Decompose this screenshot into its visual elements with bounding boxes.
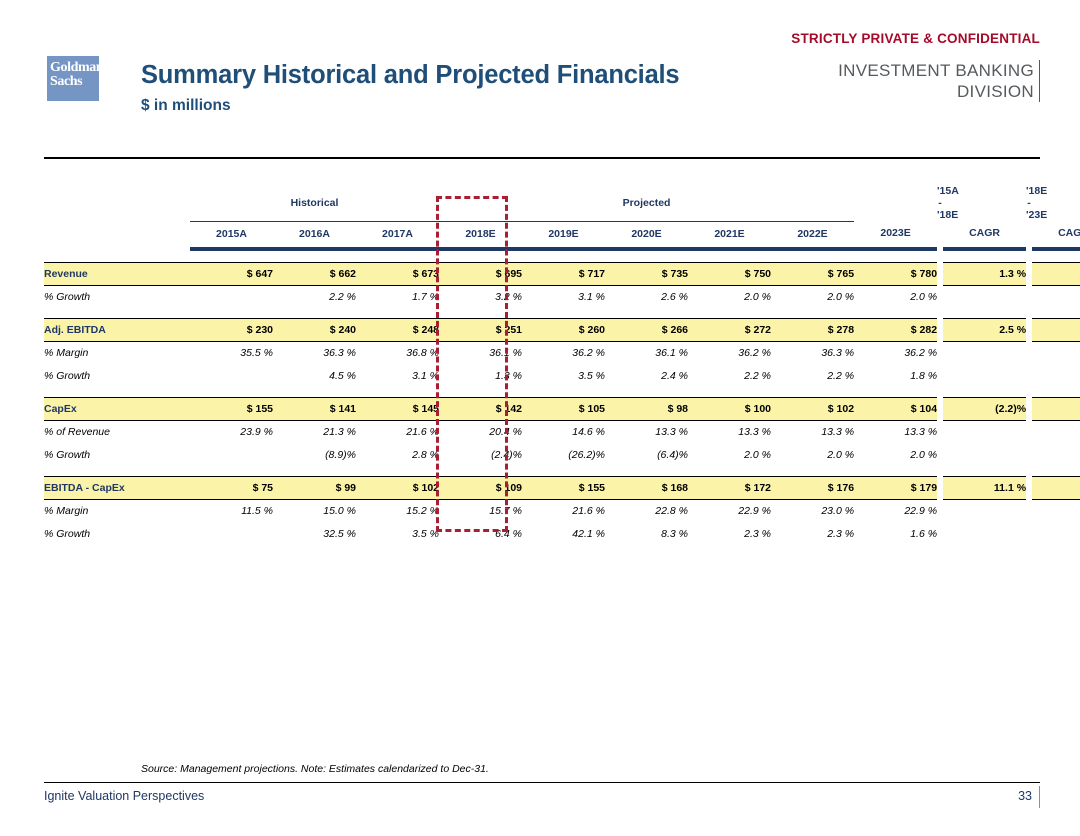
metric-row-revenue: Revenue$ 647$ 662$ 673$ 695$ 717$ 735$ 7… [44, 262, 1080, 285]
spacer-cell [44, 388, 190, 398]
subrow-capex-of-revenue-2017a: 21.6 % [356, 420, 439, 444]
metric-ebitda-capex-2018e: $ 109 [439, 476, 522, 499]
metric-capex-2019e: $ 105 [522, 397, 605, 420]
spacer-cell [190, 388, 273, 398]
spacer-cell [356, 309, 439, 319]
subrow-label-revenue-growth: % Growth [44, 285, 190, 309]
subrow-ebitda-capex-margin-2016a: 15.0 % [273, 499, 356, 523]
spacer-cell [273, 253, 356, 263]
subrow-adj-ebitda-growth-2020e: 2.4 % [605, 365, 688, 388]
spacer-cell [771, 388, 854, 398]
column-header-2015a: 2015A [190, 221, 273, 246]
spacer-cell [522, 467, 605, 477]
column-header-cagr-1: CAGR [943, 221, 1026, 246]
source-note: Source: Management projections. Note: Es… [141, 763, 489, 775]
spacer-cell [854, 388, 937, 398]
page-title: Summary Historical and Projected Financi… [141, 60, 679, 90]
spacer-cell [439, 467, 522, 477]
column-header-2017a: 2017A [356, 221, 439, 246]
title-block: Summary Historical and Projected Financi… [141, 60, 679, 115]
metric-revenue-2017a: $ 673 [356, 262, 439, 285]
subrow-ebitda-capex-margin-2021e: 22.9 % [688, 499, 771, 523]
subrow-ebitda-capex-margin-2020e: 22.8 % [605, 499, 688, 523]
metric-revenue-2016a: $ 662 [273, 262, 356, 285]
subrow-adj-ebitda-growth-cagr-2 [1032, 365, 1080, 388]
spacer-cell [605, 388, 688, 398]
metric-capex-2018e: $ 142 [439, 397, 522, 420]
spacer-cell [1032, 467, 1080, 477]
spacer-cell [439, 253, 522, 263]
metric-row-adj-ebitda: Adj. EBITDA$ 230$ 240$ 248$ 251$ 260$ 26… [44, 318, 1080, 341]
subrow-adj-ebitda-margin-2023e: 36.2 % [854, 341, 937, 365]
subrow-ebitda-capex-growth-2019e: 42.1 % [522, 523, 605, 546]
subrow-adj-ebitda-margin-cagr-2 [1032, 341, 1080, 365]
metric-adj-ebitda-2022e: $ 278 [771, 318, 854, 341]
metric-adj-ebitda-2019e: $ 260 [522, 318, 605, 341]
metric-capex-2021e: $ 100 [688, 397, 771, 420]
subrow-ebitda-capex-margin-2022e: 23.0 % [771, 499, 854, 523]
subrow-capex-of-revenue-2016a: 21.3 % [273, 420, 356, 444]
spacer-cell [356, 467, 439, 477]
metric-ebitda-capex-2016a: $ 99 [273, 476, 356, 499]
metric-adj-ebitda-2021e: $ 272 [688, 318, 771, 341]
goldman-sachs-logo: Goldman Sachs [47, 56, 99, 101]
subrow-revenue-growth-cagr-2 [1032, 285, 1080, 309]
subrow-revenue-growth-cagr-1 [943, 285, 1026, 309]
subrow-ebitda-capex-growth-2023e: 1.6 % [854, 523, 937, 546]
spacer-cell [44, 253, 190, 263]
spacer-cell [854, 309, 937, 319]
metric-ebitda-capex-2020e: $ 168 [605, 476, 688, 499]
subrow-adj-ebitda-margin-2017a: 36.8 % [356, 341, 439, 365]
spacer-cell [356, 388, 439, 398]
subrow-capex-growth-2019e: (26.2)% [522, 444, 605, 467]
subrow-capex-of-revenue-2019e: 14.6 % [522, 420, 605, 444]
subrow-adj-ebitda-margin-2015a: 35.5 % [190, 341, 273, 365]
spacer-cell [273, 309, 356, 319]
subrow-adj-ebitda-growth-2022e: 2.2 % [771, 365, 854, 388]
subrow-ebitda-capex-margin-2019e: 21.6 % [522, 499, 605, 523]
subrow-adj-ebitda-margin-2020e: 36.1 % [605, 341, 688, 365]
column-group-header-row: HistoricalProjected'15A - '18E'18E - '23… [44, 185, 1080, 221]
spacer-cell [190, 253, 273, 263]
metric-ebitda-capex-2022e: $ 176 [771, 476, 854, 499]
section-spacer-3 [44, 388, 1080, 398]
investment-banking-division-logo: INVESTMENT BANKING DIVISION [838, 60, 1040, 102]
subrow-capex-of-revenue-cagr-1 [943, 420, 1026, 444]
metric-capex-cagr-2: (6.0)% [1032, 397, 1080, 420]
metric-adj-ebitda-2016a: $ 240 [273, 318, 356, 341]
subrow-revenue-growth-2015a [190, 285, 273, 309]
metric-label-capex: CapEx [44, 397, 190, 420]
metric-ebitda-capex-2021e: $ 172 [688, 476, 771, 499]
subrow-ebitda-capex-growth: % Growth32.5 %3.5 %6.4 %42.1 %8.3 %2.3 %… [44, 523, 1080, 546]
subrow-capex-of-revenue-2018e: 20.4 % [439, 420, 522, 444]
metric-ebitda-capex-2015a: $ 75 [190, 476, 273, 499]
subrow-capex-of-revenue-2015a: 23.9 % [190, 420, 273, 444]
spacer-cell [943, 309, 1026, 319]
spacer-cell [854, 467, 937, 477]
metric-capex-2017a: $ 145 [356, 397, 439, 420]
spacer-cell [44, 309, 190, 319]
logo-text: Goldman Sachs [50, 61, 99, 88]
group-spacer [44, 185, 190, 221]
navy-rule-cagr-2-bar [1032, 247, 1080, 251]
spacer-cell [688, 467, 771, 477]
deck-name: Ignite Valuation Perspectives [44, 789, 204, 803]
subrow-adj-ebitda-margin-2016a: 36.3 % [273, 341, 356, 365]
subrow-ebitda-capex-growth-cagr-1 [943, 523, 1026, 546]
column-header-2021e: 2021E [688, 221, 771, 246]
subrow-ebitda-capex-growth-2020e: 8.3 % [605, 523, 688, 546]
subrow-adj-ebitda-growth-cagr-1 [943, 365, 1026, 388]
spacer-cell [771, 253, 854, 263]
subrow-ebitda-capex-growth-2015a [190, 523, 273, 546]
subrow-ebitda-capex-margin-cagr-2 [1032, 499, 1080, 523]
page-subtitle: $ in millions [141, 97, 679, 115]
metric-adj-ebitda-2020e: $ 266 [605, 318, 688, 341]
subrow-capex-of-revenue-2021e: 13.3 % [688, 420, 771, 444]
metric-label-ebitda-capex: EBITDA - CapEx [44, 476, 190, 499]
subrow-revenue-growth-2023e: 2.0 % [854, 285, 937, 309]
spacer-cell [439, 309, 522, 319]
metric-adj-ebitda-cagr-2: 2.4 % [1032, 318, 1080, 341]
group-gap-1 [854, 185, 937, 221]
metric-label-adj-ebitda: Adj. EBITDA [44, 318, 190, 341]
subrow-label-capex-growth: % Growth [44, 444, 190, 467]
metric-ebitda-capex-2017a: $ 102 [356, 476, 439, 499]
spacer-cell [943, 467, 1026, 477]
metric-capex-2016a: $ 141 [273, 397, 356, 420]
subrow-revenue-growth-2020e: 2.6 % [605, 285, 688, 309]
subrow-ebitda-capex-growth-2017a: 3.5 % [356, 523, 439, 546]
metric-capex-2020e: $ 98 [605, 397, 688, 420]
metric-capex-cagr-1: (2.2)% [943, 397, 1026, 420]
subrow-adj-ebitda-margin-2019e: 36.2 % [522, 341, 605, 365]
navy-rule-cagr-1-bar [943, 247, 1026, 251]
subrow-ebitda-capex-margin-2018e: 15.7 % [439, 499, 522, 523]
spacer-cell [522, 309, 605, 319]
confidentiality-banner: STRICTLY PRIVATE & CONFIDENTIAL [791, 31, 1040, 46]
spacer-cell [605, 253, 688, 263]
metric-ebitda-capex-2019e: $ 155 [522, 476, 605, 499]
subrow-adj-ebitda-margin-2022e: 36.3 % [771, 341, 854, 365]
subrow-ebitda-capex-growth-cagr-2 [1032, 523, 1080, 546]
metric-ebitda-capex-2023e: $ 179 [854, 476, 937, 499]
section-spacer-2 [44, 309, 1080, 319]
subrow-adj-ebitda-margin-2018e: 36.1 % [439, 341, 522, 365]
subrow-label-adj-ebitda-growth: % Growth [44, 365, 190, 388]
spacer-cell [943, 253, 1026, 263]
spacer-cell [854, 253, 937, 263]
subrow-capex-growth-2021e: 2.0 % [688, 444, 771, 467]
subrow-adj-ebitda-growth-2019e: 3.5 % [522, 365, 605, 388]
metric-revenue-2019e: $ 717 [522, 262, 605, 285]
subrow-capex-growth-2017a: 2.8 % [356, 444, 439, 467]
subrow-capex-of-revenue-cagr-2 [1032, 420, 1080, 444]
column-header-2018e: 2018E [439, 221, 522, 246]
spacer-cell [605, 467, 688, 477]
subrow-ebitda-capex-margin: % Margin11.5 %15.0 %15.2 %15.7 %21.6 %22… [44, 499, 1080, 523]
spacer-cell [439, 388, 522, 398]
subrow-ebitda-capex-growth-2018e: 6.4 % [439, 523, 522, 546]
subrow-capex-growth-2020e: (6.4)% [605, 444, 688, 467]
subrow-label-adj-ebitda-margin: % Margin [44, 341, 190, 365]
metric-ebitda-capex-cagr-2: 10.4 % [1032, 476, 1080, 499]
spacer-cell [273, 388, 356, 398]
subrow-adj-ebitda-growth: % Growth4.5 %3.1 %1.3 %3.5 %2.4 %2.2 %2.… [44, 365, 1080, 388]
spacer-cell [190, 309, 273, 319]
subrow-capex-growth-2023e: 2.0 % [854, 444, 937, 467]
spacer-cell [1032, 253, 1080, 263]
subrow-revenue-growth-2019e: 3.1 % [522, 285, 605, 309]
subrow-capex-of-revenue: % of Revenue23.9 %21.3 %21.6 %20.4 %14.6… [44, 420, 1080, 444]
spacer-cell [1032, 309, 1080, 319]
spacer-cell [688, 309, 771, 319]
metric-revenue-cagr-2: 2.3 % [1032, 262, 1080, 285]
metric-row-capex: CapEx$ 155$ 141$ 145$ 142$ 105$ 98$ 100$… [44, 397, 1080, 420]
metric-ebitda-capex-cagr-1: 11.1 % [943, 476, 1026, 499]
metric-revenue-2020e: $ 735 [605, 262, 688, 285]
metric-row-ebitda-capex: EBITDA - CapEx$ 75$ 99$ 102$ 109$ 155$ 1… [44, 476, 1080, 499]
subrow-revenue-growth-2016a: 2.2 % [273, 285, 356, 309]
spacer-cell [44, 467, 190, 477]
column-header-cagr-2: CAGR [1032, 221, 1080, 246]
navy-rule-years [190, 246, 937, 253]
column-group-historical: Historical [190, 185, 439, 221]
subrow-adj-ebitda-growth-2016a: 4.5 % [273, 365, 356, 388]
logo-line-2: Sachs [50, 74, 82, 89]
subrow-capex-of-revenue-2020e: 13.3 % [605, 420, 688, 444]
metric-adj-ebitda-2023e: $ 282 [854, 318, 937, 341]
header-underline-row [44, 246, 1080, 253]
spacer-cell [688, 388, 771, 398]
spacer-cell [190, 467, 273, 477]
metric-adj-ebitda-2017a: $ 248 [356, 318, 439, 341]
subrow-revenue-growth: % Growth2.2 %1.7 %3.2 %3.1 %2.6 %2.0 %2.… [44, 285, 1080, 309]
page-number: 33 [1018, 789, 1032, 803]
spacer-cell [1032, 388, 1080, 398]
metric-capex-2023e: $ 104 [854, 397, 937, 420]
metric-adj-ebitda-2015a: $ 230 [190, 318, 273, 341]
subrow-label-ebitda-capex-growth: % Growth [44, 523, 190, 546]
subrow-ebitda-capex-margin-2023e: 22.9 % [854, 499, 937, 523]
column-header-2020e: 2020E [605, 221, 688, 246]
subrow-capex-growth-cagr-2 [1032, 444, 1080, 467]
metric-revenue-2022e: $ 765 [771, 262, 854, 285]
subrow-ebitda-capex-margin-cagr-1 [943, 499, 1026, 523]
spacer-cell [522, 388, 605, 398]
subrow-adj-ebitda-growth-2018e: 1.3 % [439, 365, 522, 388]
page-number-rule [1039, 786, 1041, 808]
spacer-cell [943, 388, 1026, 398]
spacer-cell [771, 467, 854, 477]
subrow-adj-ebitda-growth-2017a: 3.1 % [356, 365, 439, 388]
subrow-adj-ebitda-growth-2021e: 2.2 % [688, 365, 771, 388]
subrow-adj-ebitda-margin: % Margin35.5 %36.3 %36.8 %36.1 %36.2 %36… [44, 341, 1080, 365]
subrow-revenue-growth-2021e: 2.0 % [688, 285, 771, 309]
subrow-ebitda-capex-growth-2022e: 2.3 % [771, 523, 854, 546]
subrow-ebitda-capex-growth-2016a: 32.5 % [273, 523, 356, 546]
spacer-cell [522, 253, 605, 263]
subrow-adj-ebitda-margin-2021e: 36.2 % [688, 341, 771, 365]
subrow-capex-of-revenue-2023e: 13.3 % [854, 420, 937, 444]
division-line-2: DIVISION [838, 81, 1034, 102]
rule-label-spacer [44, 246, 190, 253]
spacer-cell [688, 253, 771, 263]
metric-adj-ebitda-cagr-1: 2.5 % [943, 318, 1026, 341]
spacer-cell [771, 309, 854, 319]
metric-revenue-2018e: $ 695 [439, 262, 522, 285]
subrow-adj-ebitda-growth-2015a [190, 365, 273, 388]
subrow-ebitda-capex-margin-2015a: 11.5 % [190, 499, 273, 523]
metric-revenue-cagr-1: 1.3 % [943, 262, 1026, 285]
subrow-ebitda-capex-growth-2021e: 2.3 % [688, 523, 771, 546]
subrow-capex-growth-cagr-1 [943, 444, 1026, 467]
column-group-projected: Projected [439, 185, 854, 221]
subrow-capex-growth-2015a [190, 444, 273, 467]
subrow-adj-ebitda-growth-2023e: 1.8 % [854, 365, 937, 388]
section-spacer-1 [44, 253, 1080, 263]
spacer-cell [273, 467, 356, 477]
subrow-capex-growth-2016a: (8.9)% [273, 444, 356, 467]
navy-rule-cagr-1 [943, 246, 1026, 253]
division-line-1: INVESTMENT BANKING [838, 60, 1034, 81]
metric-label-revenue: Revenue [44, 262, 190, 285]
subrow-revenue-growth-2018e: 3.2 % [439, 285, 522, 309]
section-spacer-4 [44, 467, 1080, 477]
subrow-revenue-growth-2017a: 1.7 % [356, 285, 439, 309]
column-group-cagr-2: '18E - '23E [1026, 185, 1032, 221]
year-row-label [44, 221, 190, 246]
subrow-revenue-growth-2022e: 2.0 % [771, 285, 854, 309]
column-header-2023e: 2023E [854, 221, 937, 246]
header-divider [44, 157, 1040, 159]
subrow-adj-ebitda-margin-cagr-1 [943, 341, 1026, 365]
subrow-capex-growth: % Growth(8.9)%2.8 %(2.4)%(26.2)%(6.4)%2.… [44, 444, 1080, 467]
footer-divider [44, 782, 1040, 783]
metric-capex-2015a: $ 155 [190, 397, 273, 420]
subrow-capex-of-revenue-2022e: 13.3 % [771, 420, 854, 444]
metric-revenue-2023e: $ 780 [854, 262, 937, 285]
metric-revenue-2021e: $ 750 [688, 262, 771, 285]
subrow-label-capex-of-revenue: % of Revenue [44, 420, 190, 444]
subrow-capex-growth-2022e: 2.0 % [771, 444, 854, 467]
metric-adj-ebitda-2018e: $ 251 [439, 318, 522, 341]
column-header-2022e: 2022E [771, 221, 854, 246]
year-header-row: 2015A2016A2017A2018E2019E2020E2021E2022E… [44, 221, 1080, 246]
subrow-capex-growth-2018e: (2.4)% [439, 444, 522, 467]
spacer-cell [605, 309, 688, 319]
metric-capex-2022e: $ 102 [771, 397, 854, 420]
column-header-2016a: 2016A [273, 221, 356, 246]
spacer-cell [356, 253, 439, 263]
column-header-2019e: 2019E [522, 221, 605, 246]
navy-rule-cagr-2 [1032, 246, 1080, 253]
navy-rule-years-bar [190, 247, 937, 251]
subrow-label-ebitda-capex-margin: % Margin [44, 499, 190, 523]
metric-revenue-2015a: $ 647 [190, 262, 273, 285]
financials-table: HistoricalProjected'15A - '18E'18E - '23… [44, 185, 1080, 546]
subrow-ebitda-capex-margin-2017a: 15.2 % [356, 499, 439, 523]
